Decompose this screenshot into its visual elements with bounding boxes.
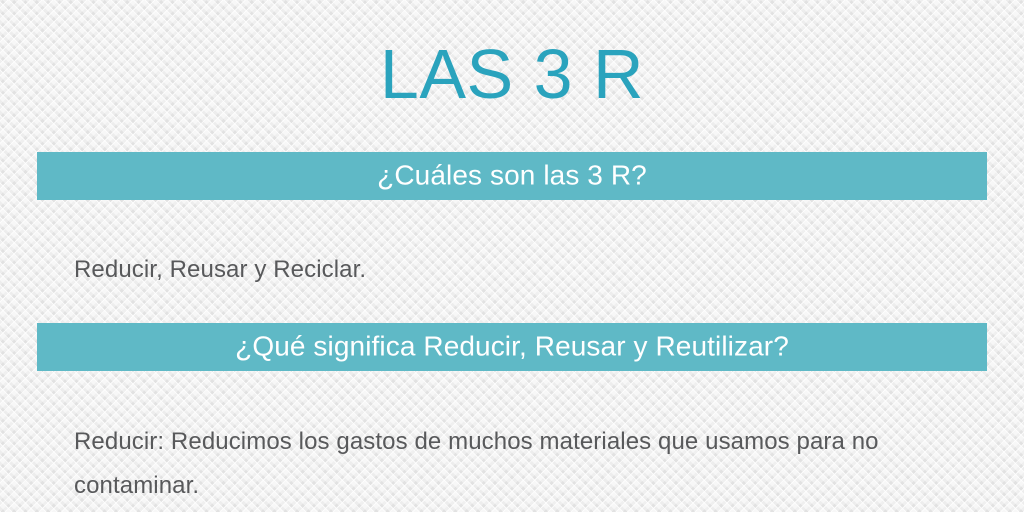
section-body-text-2: Reducir: Reducimos los gastos de muchos … [74,420,934,508]
section-heading-bar-2: ¿Qué significa Reducir, Reusar y Reutili… [37,323,987,371]
slide-canvas: LAS 3 R ¿Cuáles son las 3 R? Reducir, Re… [0,0,1024,512]
section-heading-label-1: ¿Cuáles son las 3 R? [37,161,987,192]
page-title: LAS 3 R [0,38,1024,112]
section-heading-bar-1: ¿Cuáles son las 3 R? [37,152,987,200]
section-body-text-1: Reducir, Reusar y Reciclar. [74,248,934,292]
section-heading-label-2: ¿Qué significa Reducir, Reusar y Reutili… [37,332,987,363]
